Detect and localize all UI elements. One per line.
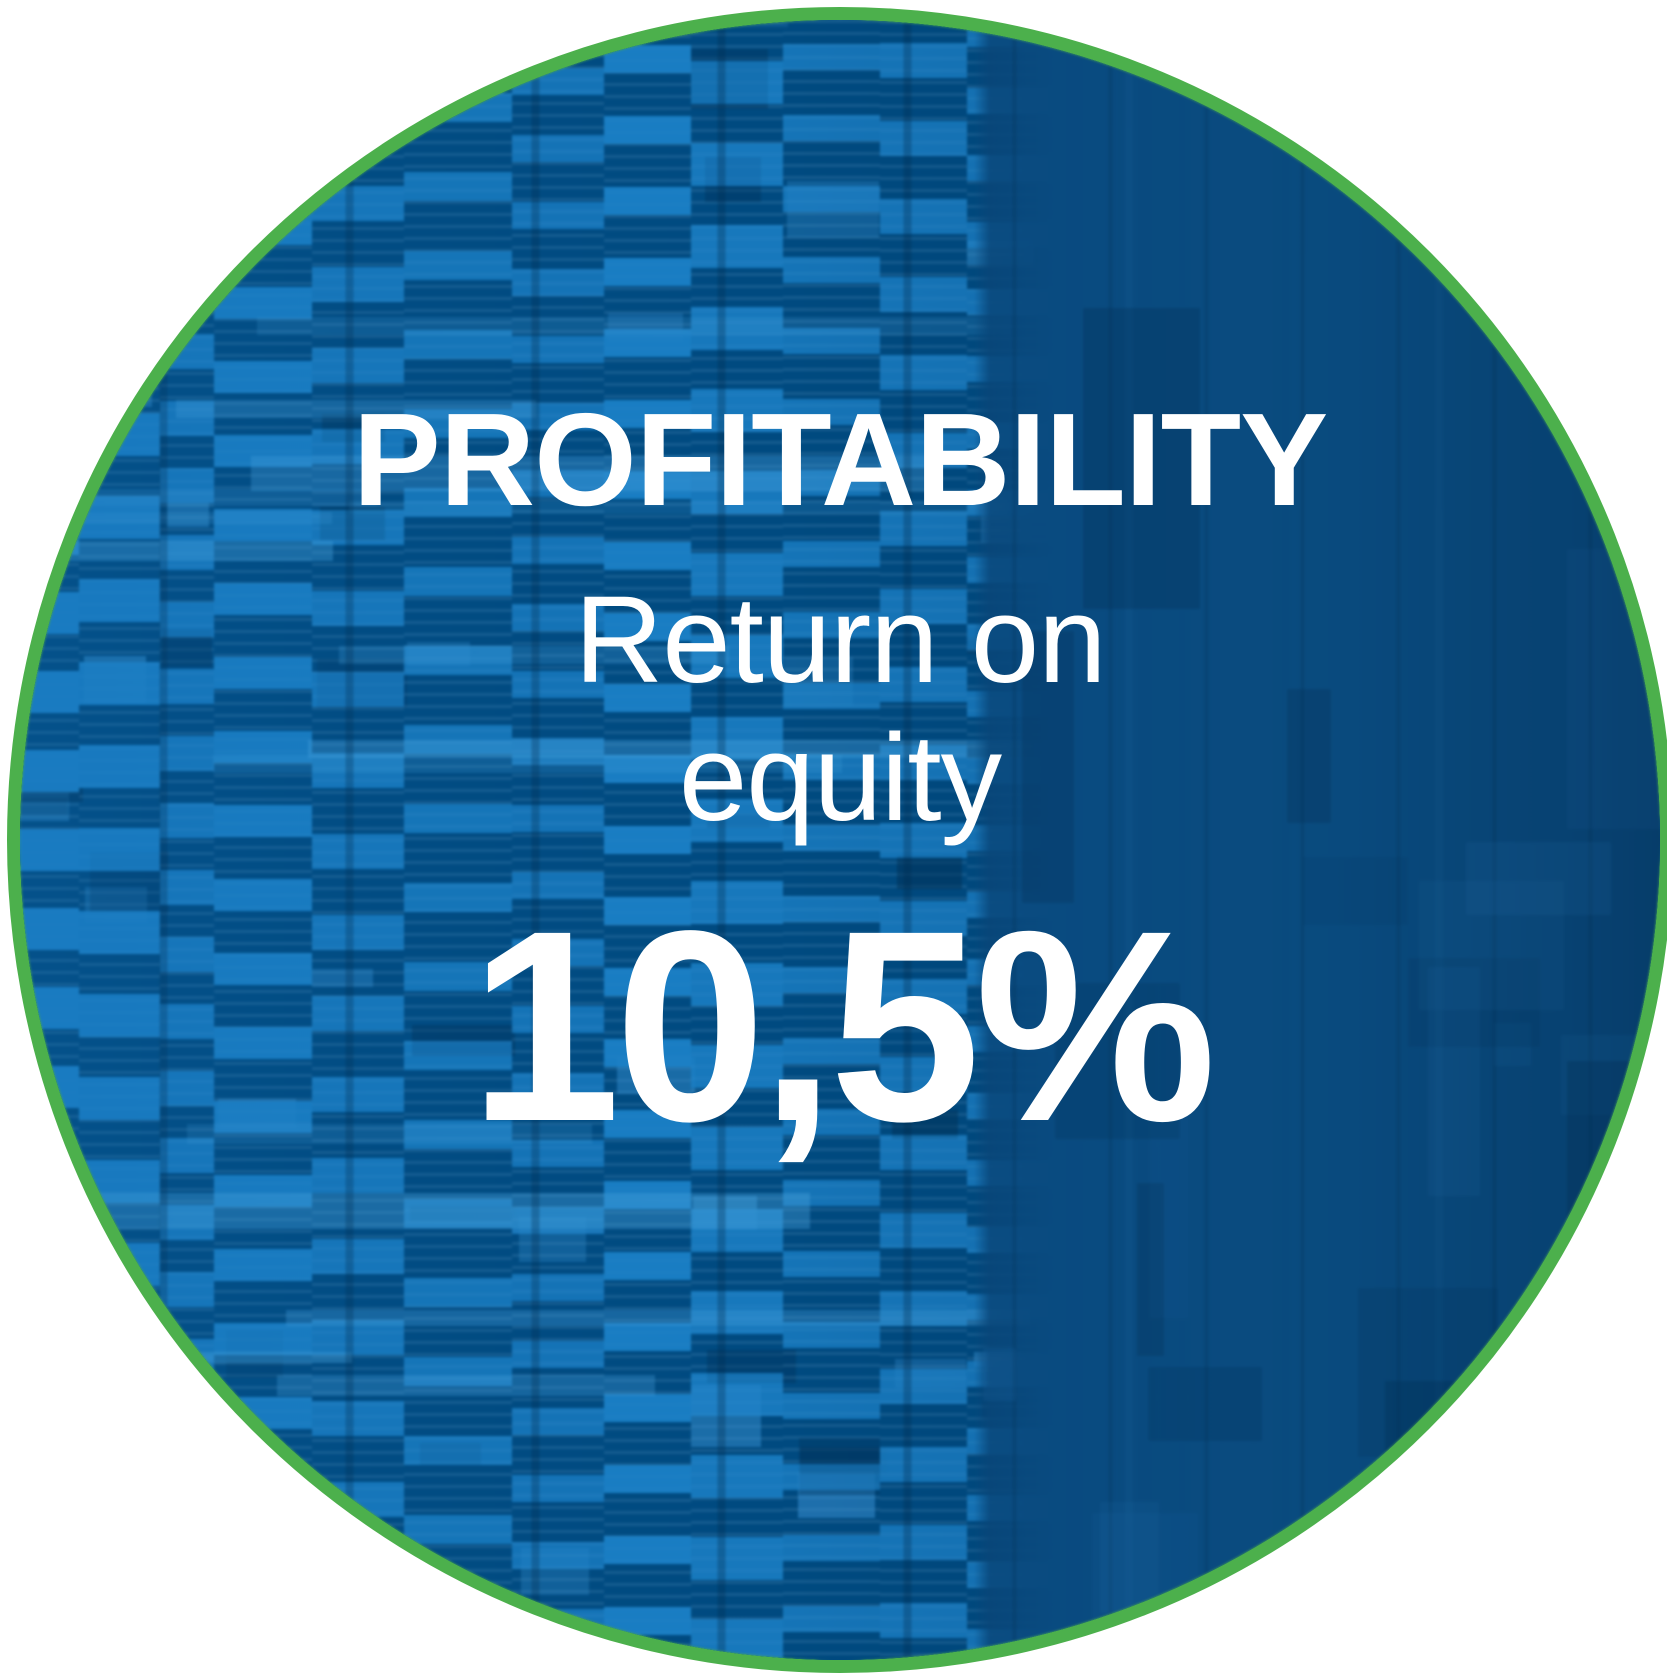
- kpi-text-stack: PROFITABILITY Return on equity 10,5%: [20, 20, 1660, 1660]
- profitability-kpi-badge: PROFITABILITY Return on equity 10,5%: [7, 7, 1667, 1673]
- kpi-value: 10,5%: [469, 890, 1210, 1162]
- badge-clip: PROFITABILITY Return on equity 10,5%: [20, 20, 1660, 1660]
- kpi-metric-label: Return on equity: [470, 572, 1210, 848]
- kpi-category-title: PROFITABILITY: [353, 394, 1328, 526]
- kpi-badge-canvas: PROFITABILITY Return on equity 10,5%: [0, 0, 1667, 1667]
